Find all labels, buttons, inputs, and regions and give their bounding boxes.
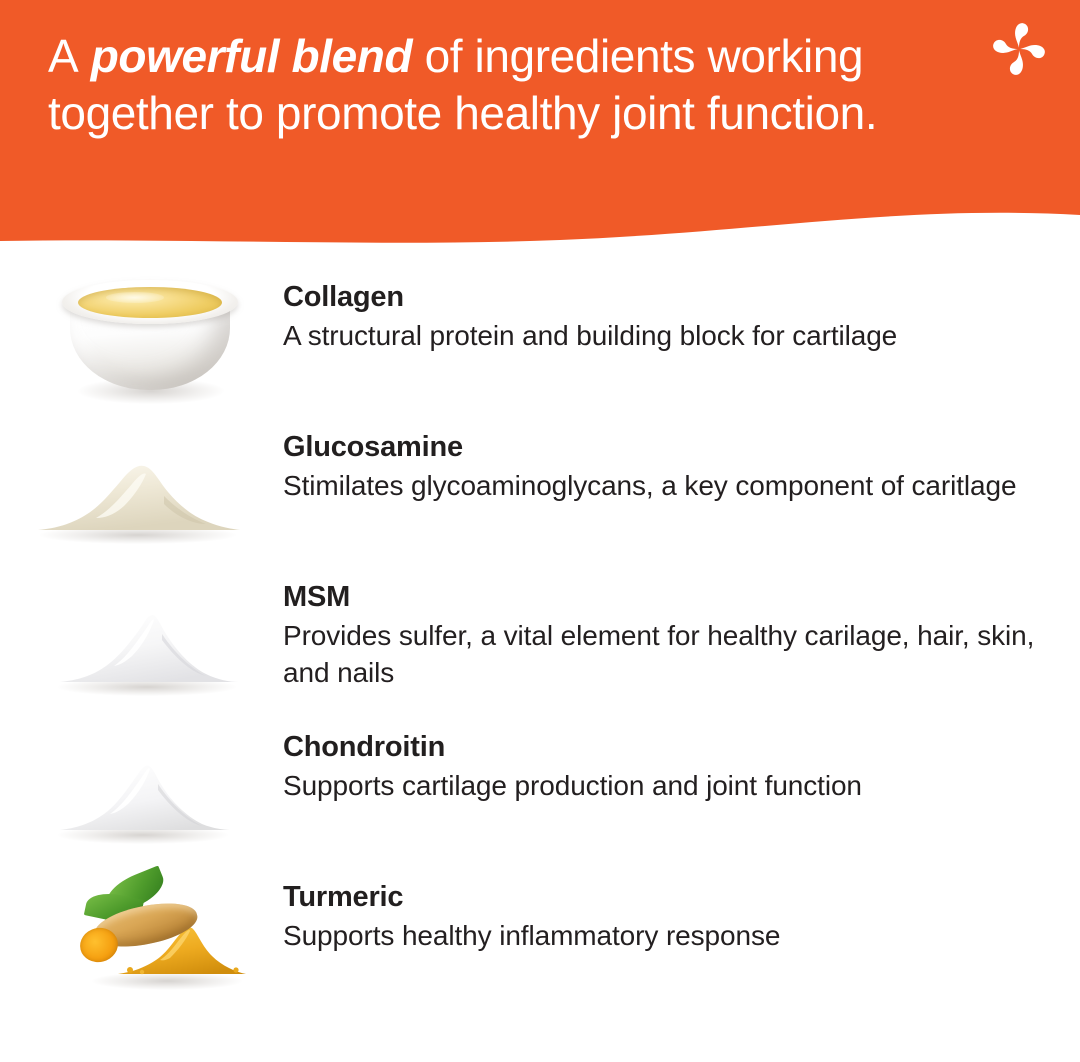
ingredient-image-cell: [0, 862, 283, 1012]
ingredient-description: Stimilates glycoaminoglycans, a key comp…: [283, 467, 1043, 504]
bowl-of-broth-image: [62, 274, 238, 400]
ingredient-description: Provides sulfer, a vital element for hea…: [283, 617, 1043, 691]
turmeric-root-and-powder-image: [58, 868, 258, 994]
ingredient-name: Glucosamine: [283, 430, 1080, 464]
ingredient-name: Chondroitin: [283, 730, 1080, 764]
broth-highlight: [106, 292, 164, 303]
header-content: A powerful blend of ingredients working …: [0, 0, 1080, 250]
ingredient-description: Supports cartilage production and joint …: [283, 767, 1043, 804]
ingredient-name: Collagen: [283, 280, 1080, 314]
list-item: Collagen A structural protein and buildi…: [0, 262, 1080, 412]
headline-lead: A: [48, 30, 78, 82]
ingredient-text-cell: Collagen A structural protein and buildi…: [283, 262, 1080, 354]
powder-mound: [58, 760, 234, 832]
header-banner: A powerful blend of ingredients working …: [0, 0, 1080, 250]
white-powder-mound-image: [30, 728, 268, 848]
cream-powder-mound-image: [18, 428, 256, 548]
infographic-page: A powerful blend of ingredients working …: [0, 0, 1080, 1062]
ingredient-image-cell: [0, 262, 283, 412]
list-item: Turmeric Supports healthy inflammatory r…: [0, 862, 1080, 1012]
ingredient-description: Supports healthy inflammatory response: [283, 917, 1043, 954]
pinwheel-flower-logo: [986, 16, 1052, 82]
ingredient-text-cell: Glucosamine Stimilates glycoaminoglycans…: [283, 412, 1080, 504]
ingredient-name: MSM: [283, 580, 1080, 614]
powder-mound: [36, 458, 242, 532]
list-item: Glucosamine Stimilates glycoaminoglycans…: [0, 412, 1080, 562]
list-item: MSM Provides sulfer, a vital element for…: [0, 562, 1080, 712]
ingredient-text-cell: MSM Provides sulfer, a vital element for…: [283, 562, 1080, 692]
list-item: Chondroitin Supports cartilage productio…: [0, 712, 1080, 862]
page-title: A powerful blend of ingredients working …: [48, 28, 928, 142]
ingredient-image-cell: [0, 562, 283, 712]
ingredient-image-cell: [0, 412, 283, 562]
broth-liquid: [78, 287, 222, 318]
ingredient-list: Collagen A structural protein and buildi…: [0, 262, 1080, 1012]
powder-mound: [58, 608, 240, 684]
ingredient-image-cell: [0, 712, 283, 862]
ingredient-description: A structural protein and building block …: [283, 317, 1043, 354]
white-powder-mound-image: [32, 580, 270, 700]
headline-emphasis: powerful blend: [91, 30, 413, 82]
ingredient-name: Turmeric: [283, 880, 1080, 914]
ingredient-text-cell: Turmeric Supports healthy inflammatory r…: [283, 862, 1080, 954]
ingredient-text-cell: Chondroitin Supports cartilage productio…: [283, 712, 1080, 804]
